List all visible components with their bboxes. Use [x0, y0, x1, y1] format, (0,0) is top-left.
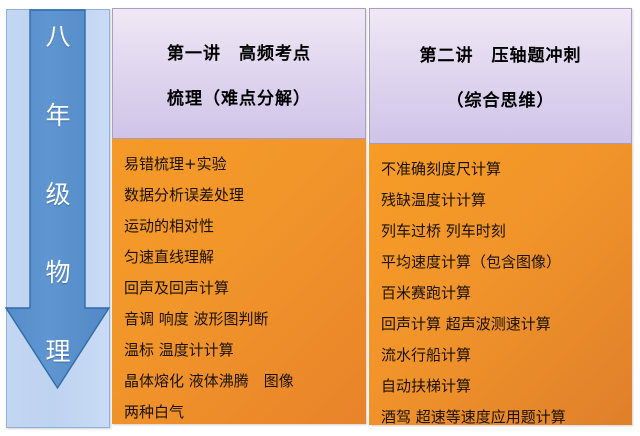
lecture-2-header-line2: （综合思维） [447, 86, 555, 111]
list-item: 数据分析误差处理 [124, 180, 366, 211]
arrow-char-4: 物 [45, 260, 70, 285]
list-item: 不准确刻度尺计算 [381, 154, 632, 185]
list-item: 运动的相对性 [124, 211, 366, 242]
list-item: 列车过桥 列车时刻 [381, 216, 632, 247]
lecture-column-1: 第一讲 高频考点 梳理（难点分解） 易错梳理+实验 数据分析误差处理 运动的相对… [112, 8, 366, 424]
list-item: 自动扶梯计算 [381, 371, 632, 402]
lecture-column-2: 第二讲 压轴题冲刺 （综合思维） 不准确刻度尺计算 残缺温度计计算 列车过桥 列… [369, 8, 632, 425]
lecture-1-header-line1: 第一讲 高频考点 [167, 39, 311, 64]
list-item: 平均速度计算（包含图像） [381, 247, 632, 278]
lecture-2-header-line1: 第二讲 压轴题冲刺 [420, 41, 582, 66]
arrow-char-3: 级 [45, 182, 70, 207]
list-item: 酒驾 超速等速度应用题计算 [381, 402, 632, 433]
arrow-char-2: 年 [45, 103, 70, 128]
list-item: 易错梳理+实验 [124, 149, 366, 180]
lecture-2-topic-list: 不准确刻度尺计算 残缺温度计计算 列车过桥 列车时刻 平均速度计算（包含图像） … [369, 144, 632, 425]
list-item: 百米赛跑计算 [381, 278, 632, 309]
lecture-2-header: 第二讲 压轴题冲刺 （综合思维） [369, 8, 632, 144]
grade-subject-label: 八 年 级 物 理 [32, 24, 84, 364]
list-item: 音调 响度 波形图判断 [124, 304, 366, 335]
list-item: 匀速直线理解 [124, 242, 366, 273]
list-item: 回声计算 超声波测速计算 [381, 309, 632, 340]
list-item: 两种白气 [124, 397, 366, 428]
list-item: 晶体熔化 液体沸腾 图像 [124, 366, 366, 397]
lecture-1-header-line2: 梳理（难点分解） [167, 84, 311, 109]
arrow-char-5: 理 [45, 339, 70, 364]
list-item: 残缺温度计计算 [381, 185, 632, 216]
list-item: 回声及回声计算 [124, 273, 366, 304]
lecture-1-topic-list: 易错梳理+实验 数据分析误差处理 运动的相对性 匀速直线理解 回声及回声计算 音… [112, 139, 366, 424]
list-item: 流水行船计算 [381, 340, 632, 371]
slide-canvas: 八 年 级 物 理 第一讲 高频考点 梳理（难点分解） 易错梳理+实验 数据分析… [0, 0, 640, 436]
lecture-1-header: 第一讲 高频考点 梳理（难点分解） [112, 8, 366, 139]
list-item: 温标 温度计计算 [124, 335, 366, 366]
arrow-char-1: 八 [45, 24, 70, 49]
